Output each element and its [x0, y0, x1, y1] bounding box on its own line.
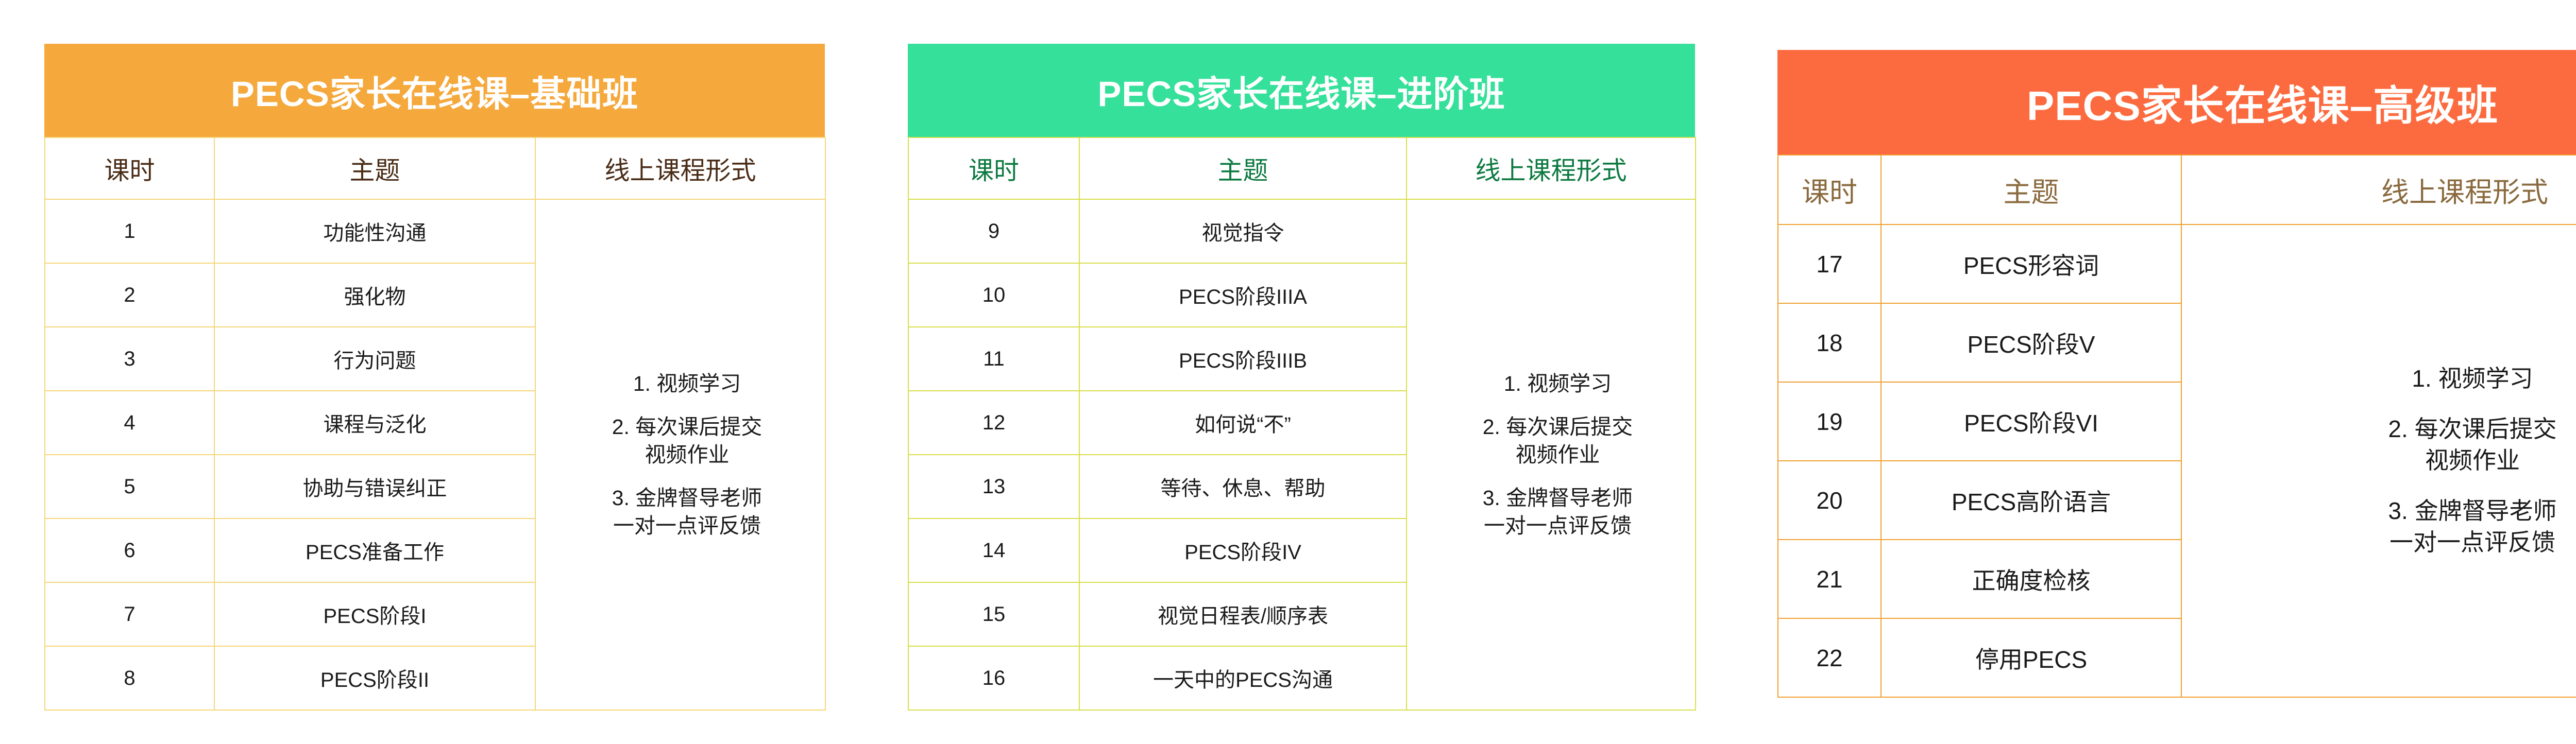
topic-label: PECS阶段I [214, 582, 535, 646]
topic-label: 行为问题 [214, 327, 535, 391]
format-spacer [2197, 477, 2576, 495]
session-number: 14 [908, 518, 1079, 582]
session-number: 12 [908, 391, 1079, 455]
session-number: 16 [908, 646, 1079, 710]
column-header-topic: 主题 [214, 137, 535, 199]
session-number: 1 [45, 199, 214, 263]
format-spacer [2197, 395, 2576, 413]
session-number: 20 [1778, 461, 1881, 540]
topic-label: 停用PECS [1881, 618, 2181, 697]
format-line-1: 1. 视频学习 [1420, 370, 1695, 397]
column-header-topic: 主题 [1079, 137, 1406, 199]
format-line-3a: 3. 金牌督导老师 [1420, 484, 1695, 512]
table-row: 1 功能性沟通 1. 视频学习 2. 每次课后提交 视频作业 3. 金牌督导老师… [45, 199, 825, 263]
column-header-session: 课时 [908, 137, 1079, 199]
topic-label: 功能性沟通 [214, 199, 535, 263]
session-number: 17 [1778, 224, 1881, 303]
table-header-row: 课时 主题 线上课程形式 [45, 137, 825, 199]
format-line-2a: 2. 每次课后提交 [549, 413, 825, 441]
session-number: 8 [45, 646, 214, 710]
course-card-advanced-title: PECS家长在线课–进阶班 [908, 44, 1695, 137]
format-line-3b: 一对一点评反馈 [1420, 512, 1695, 540]
course-schedule-board: PECS家长在线课–基础班 课时 主题 线上课程形式 1 功能性沟通 [0, 0, 2576, 744]
format-line-3a: 3. 金牌督导老师 [549, 484, 825, 512]
topic-label: PECS高阶语言 [1881, 461, 2181, 540]
format-line-1: 1. 视频学习 [2197, 363, 2576, 395]
format-line-2b: 视频作业 [2197, 445, 2576, 477]
session-number: 3 [45, 327, 214, 391]
format-spacer [1420, 397, 1695, 413]
format-line-3a: 3. 金牌督导老师 [2197, 495, 2576, 527]
format-spacer [549, 397, 825, 413]
course-table-basic: 课时 主题 线上课程形式 1 功能性沟通 1. 视频学习 2. 每次课后提交 视… [44, 137, 826, 711]
table-row: 9 视觉指令 1. 视频学习 2. 每次课后提交 视频作业 3. 金牌督导老师 … [908, 199, 1696, 263]
session-number: 5 [45, 455, 214, 518]
session-number: 2 [45, 263, 214, 327]
format-spacer [549, 469, 825, 484]
topic-label: 正确度检核 [1881, 540, 2181, 618]
course-card-advanced: PECS家长在线课–进阶班 课时 主题 线上课程形式 9 视觉指令 [908, 44, 1695, 711]
topic-label: PECS阶段VI [1881, 382, 2181, 461]
format-line-2a: 2. 每次课后提交 [1420, 413, 1695, 441]
online-format-cell: 1. 视频学习 2. 每次课后提交 视频作业 3. 金牌督导老师 一对一点评反馈 [1406, 199, 1696, 710]
topic-label: PECS阶段IV [1079, 518, 1406, 582]
session-number: 7 [45, 582, 214, 646]
session-number: 13 [908, 455, 1079, 518]
topic-label: PECS阶段II [214, 646, 535, 710]
column-header-session: 课时 [45, 137, 214, 199]
format-line-2b: 视频作业 [1420, 441, 1695, 469]
format-line-3b: 一对一点评反馈 [549, 512, 825, 540]
table-row: 17 PECS形容词 1. 视频学习 2. 每次课后提交 视频作业 3. 金牌督… [1778, 224, 2576, 303]
topic-label: PECS阶段IIIA [1079, 263, 1406, 327]
session-number: 22 [1778, 618, 1881, 697]
course-table-advanced: 课时 主题 线上课程形式 9 视觉指令 1. 视频学习 2. 每次课后提交 视频… [908, 137, 1696, 711]
topic-label: PECS阶段V [1881, 303, 2181, 382]
column-header-format: 线上课程形式 [535, 137, 825, 199]
session-number: 19 [1778, 382, 1881, 461]
topic-label: 视觉指令 [1079, 199, 1406, 263]
column-header-topic: 主题 [1881, 155, 2181, 224]
topic-label: PECS准备工作 [214, 518, 535, 582]
format-line-3b: 一对一点评反馈 [2197, 527, 2576, 559]
column-header-format: 线上课程形式 [1406, 137, 1696, 199]
course-card-basic-title: PECS家长在线课–基础班 [44, 44, 825, 137]
topic-label: 视觉日程表/顺序表 [1079, 582, 1406, 646]
column-header-format: 线上课程形式 [2181, 155, 2576, 224]
topic-label: 协助与错误纠正 [214, 455, 535, 518]
session-number: 6 [45, 518, 214, 582]
format-spacer [1420, 469, 1695, 484]
online-format-cell: 1. 视频学习 2. 每次课后提交 视频作业 3. 金牌督导老师 一对一点评反馈 [2181, 224, 2576, 697]
course-table-expert: 课时 主题 线上课程形式 17 PECS形容词 1. 视频学习 2. 每次课后提… [1777, 154, 2576, 698]
session-number: 9 [908, 199, 1079, 263]
topic-label: 等待、休息、帮助 [1079, 455, 1406, 518]
online-format-cell: 1. 视频学习 2. 每次课后提交 视频作业 3. 金牌督导老师 一对一点评反馈 [535, 199, 825, 710]
topic-label: 强化物 [214, 263, 535, 327]
session-number: 10 [908, 263, 1079, 327]
course-card-expert-title: PECS家长在线课–高级班 [1777, 50, 2576, 154]
session-number: 4 [45, 391, 214, 455]
format-line-2a: 2. 每次课后提交 [2197, 413, 2576, 445]
topic-label: PECS阶段IIIB [1079, 327, 1406, 391]
table-header-row: 课时 主题 线上课程形式 [908, 137, 1696, 199]
topic-label: PECS形容词 [1881, 224, 2181, 303]
format-line-1: 1. 视频学习 [549, 370, 825, 397]
table-header-row: 课时 主题 线上课程形式 [1778, 155, 2576, 224]
course-card-expert: PECS家长在线课–高级班 课时 主题 线上课程形式 17 PECS形容词 [1777, 50, 2576, 698]
topic-label: 如何说“不” [1079, 391, 1406, 455]
format-line-2b: 视频作业 [549, 441, 825, 469]
session-number: 15 [908, 582, 1079, 646]
topic-label: 一天中的PECS沟通 [1079, 646, 1406, 710]
course-card-basic: PECS家长在线课–基础班 课时 主题 线上课程形式 1 功能性沟通 [44, 44, 825, 711]
session-number: 18 [1778, 303, 1881, 382]
session-number: 21 [1778, 540, 1881, 618]
topic-label: 课程与泛化 [214, 391, 535, 455]
session-number: 11 [908, 327, 1079, 391]
column-header-session: 课时 [1778, 155, 1881, 224]
